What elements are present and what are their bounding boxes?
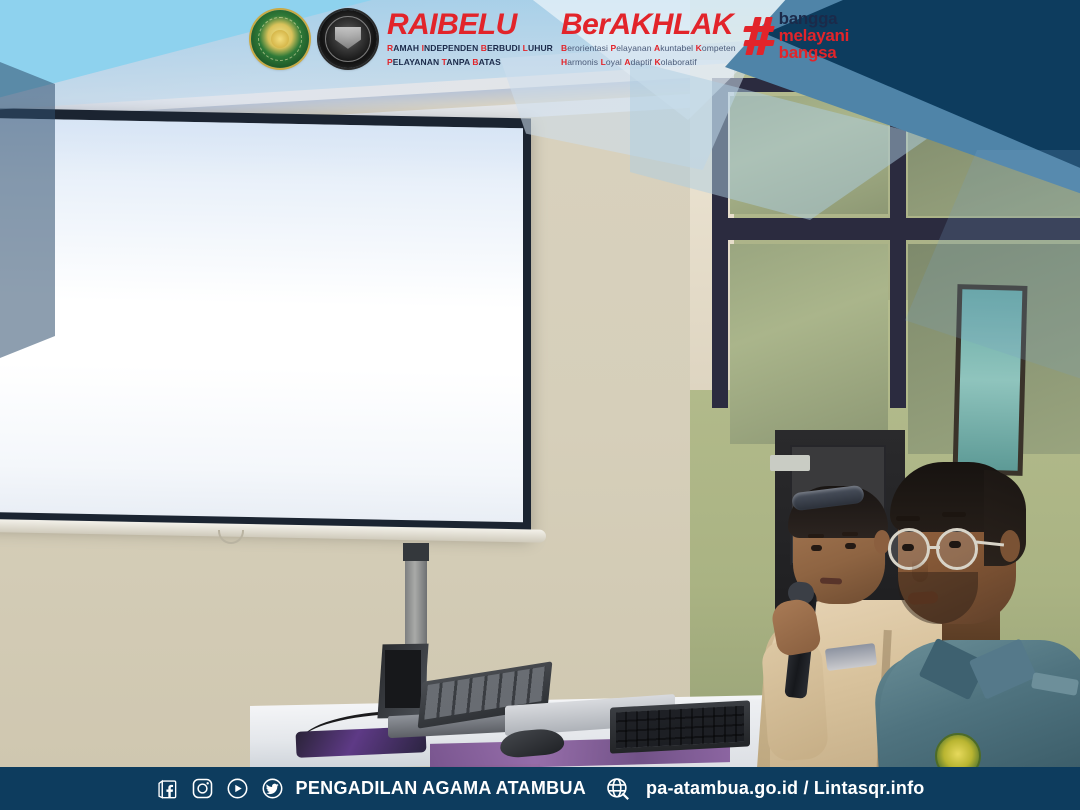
window-glass-lower-left [730, 244, 888, 444]
eyeglasses-bridge [928, 546, 940, 549]
man-b-mouth [908, 591, 939, 605]
berakhlak-tagline-line2: Harmonis Loyal Adaptif Kolaboratif [561, 57, 736, 68]
footer-bar: PENGADILAN AGAMA ATAMBUA pa-atambua.go.i… [0, 767, 1080, 810]
youtube-icon[interactable] [226, 777, 250, 801]
projector-screen-surface [0, 118, 523, 522]
man-a-brow-right [842, 532, 858, 536]
external-keyboard-keycaps [616, 706, 744, 749]
berakhlak-tagline-line1: Berorientasi Pelayanan Akuntabel Kompete… [561, 43, 736, 54]
court-emblem-ring [258, 17, 302, 61]
bmb-line-2: melayani [779, 27, 849, 44]
man-a-brow-left [808, 534, 824, 538]
man-b-eye-left [902, 544, 914, 551]
eyeglasses-lens-right [936, 528, 978, 570]
twitter-icon[interactable] [261, 777, 285, 801]
court-emblem-icon [251, 10, 309, 68]
man-a-eye-left [811, 545, 822, 551]
door-sign [770, 455, 810, 471]
bmb-line-1: bangga [779, 10, 849, 27]
man-b-brow-left [896, 516, 920, 521]
berakhlak-wordmark: BerAKHLAK [561, 10, 736, 40]
hash-icon [744, 17, 774, 55]
overlay-left-edge [0, 60, 55, 360]
man-b-nose [912, 560, 928, 582]
brand-lockup: RAIBELU RAMAH INDEPENDEN BERBUDI LUHUR P… [387, 10, 849, 69]
globe-icon [605, 776, 631, 802]
raibelu-tagline-line1: RAMAH INDEPENDEN BERBUDI LUHUR [387, 43, 553, 54]
projector-stand-top [403, 543, 429, 561]
event-photo [0, 0, 1080, 810]
website-url[interactable]: pa-atambua.go.id / Lintasqr.info [646, 778, 924, 799]
berakhlak-block: BerAKHLAK Berorientasi Pelayanan Akuntab… [561, 10, 736, 69]
man-b-brow-right [942, 512, 966, 517]
instagram-icon[interactable] [191, 777, 215, 801]
projector-screen [0, 108, 531, 536]
zona-integritas-seal-icon [319, 10, 377, 68]
institution-name: PENGADILAN AGAMA ATAMBUA [296, 778, 587, 799]
header-logo-row: RAIBELU RAMAH INDEPENDEN BERBUDI LUHUR P… [0, 0, 1080, 78]
bangga-melayani-bangsa-logo: bangga melayani bangsa [744, 10, 849, 62]
man-a-eye-right [845, 543, 856, 549]
projector-screen-glow [0, 118, 523, 309]
raibelu-tagline-line2: PELAYANAN TANPA BATAS [387, 57, 553, 68]
raibelu-wordmark: RAIBELU [387, 10, 553, 40]
raibelu-block: RAIBELU RAMAH INDEPENDEN BERBUDI LUHUR P… [387, 10, 553, 69]
man-a-mouth [820, 577, 842, 584]
poster-canvas: RAIBELU RAMAH INDEPENDEN BERBUDI LUHUR P… [0, 0, 1080, 810]
laptop-display [385, 650, 421, 708]
bmb-line-3: bangsa [779, 44, 849, 61]
facebook-icon[interactable] [156, 777, 180, 801]
bmb-wordmark: bangga melayani bangsa [779, 10, 849, 62]
man-b-eye-right [949, 541, 961, 548]
